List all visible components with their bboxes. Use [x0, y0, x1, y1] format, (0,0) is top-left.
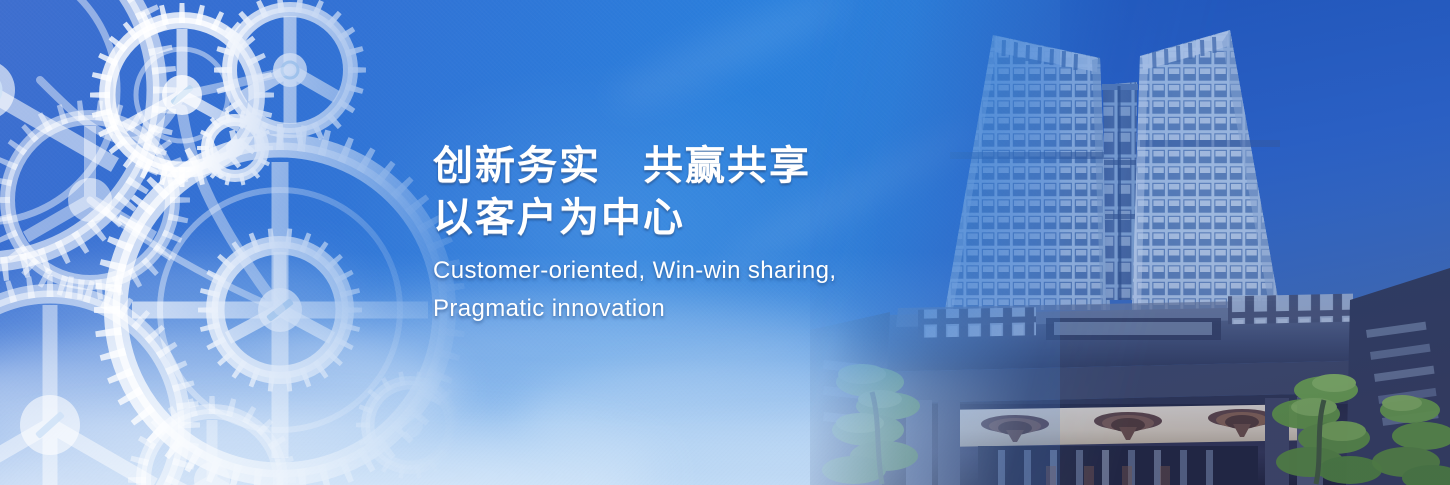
corporate-hero-banner: 创新务实 共赢共享 以客户为中心 Customer-oriented, Win-… [0, 0, 1450, 485]
banner-copy-block: 创新务实 共赢共享 以客户为中心 Customer-oriented, Win-… [433, 140, 993, 328]
subtitle-en-line-1: Customer-oriented, Win-win sharing, [433, 252, 993, 290]
subtitle-en-line-2: Pragmatic innovation [433, 290, 993, 328]
gear-shapes [0, 0, 466, 485]
subtitle-en-block: Customer-oriented, Win-win sharing, Prag… [433, 252, 993, 328]
headline-cn-line-2: 以客户为中心 [433, 192, 993, 244]
headline-cn-line-1: 创新务实 共赢共享 [433, 140, 993, 192]
